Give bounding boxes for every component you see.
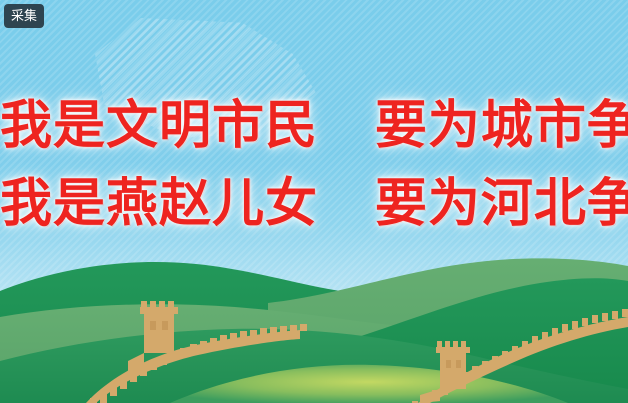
slogan-line-2: 我是燕赵儿女 要为河北争气 <box>0 178 628 230</box>
slogan-line-1-left: 我是文明市民 <box>0 100 318 152</box>
landscape-scene <box>0 243 628 403</box>
slogan-line-1-right: 要为城市争光 <box>375 100 628 152</box>
capture-button[interactable]: 采集 <box>4 4 44 28</box>
slogan-line-1: 我是文明市民 要为城市争光 <box>0 100 628 152</box>
slogan-line-2-right: 要为河北争气 <box>375 178 628 230</box>
watchtower-left <box>140 301 178 353</box>
watchtower-right <box>436 341 470 389</box>
propaganda-poster: 我是文明市民 要为城市争光 我是燕赵儿女 要为河北争气 采集 <box>0 0 628 403</box>
slogan-line-2-left: 我是燕赵儿女 <box>0 178 318 230</box>
